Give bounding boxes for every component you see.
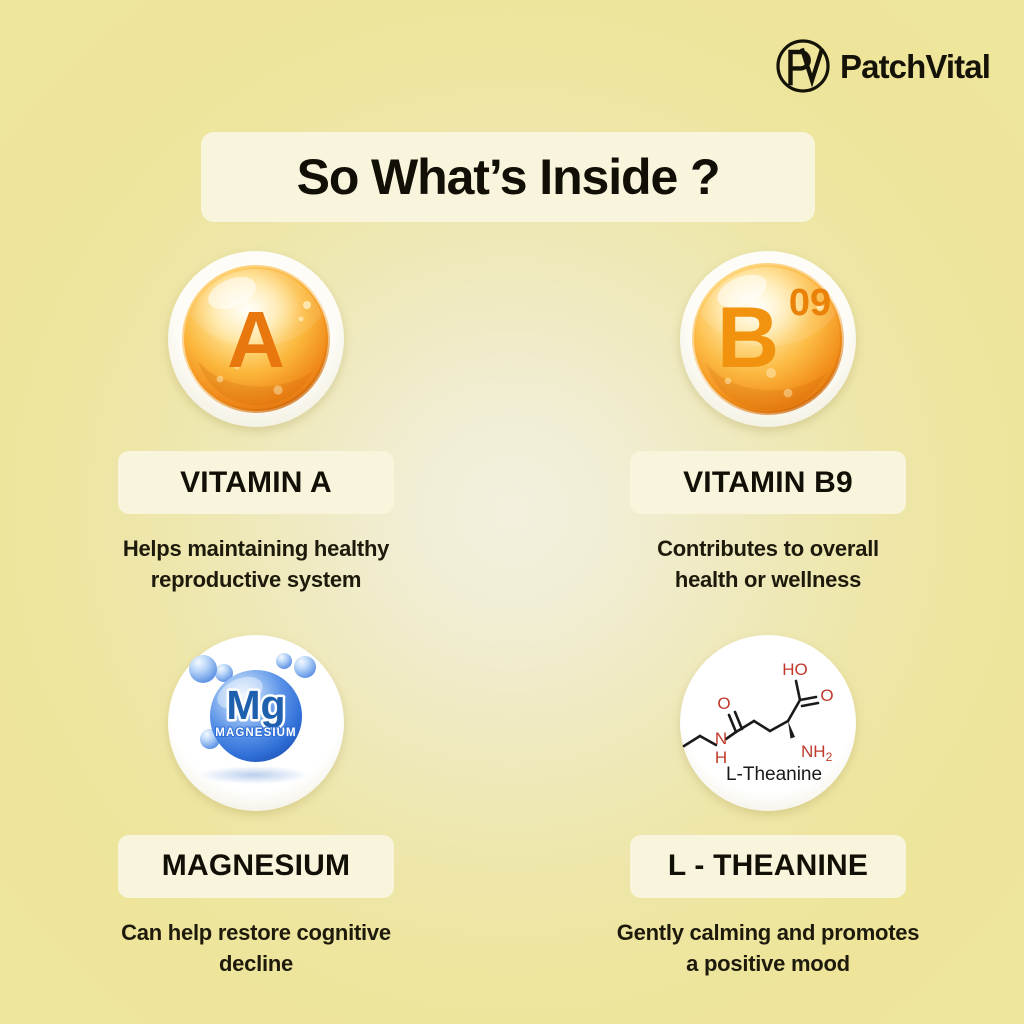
desc-line-2: reproductive system (61, 564, 451, 595)
vitamin-a-glyph: A (227, 295, 285, 384)
svg-text:N: N (715, 729, 727, 748)
ingredient-description: Can help restore cognitive decline (61, 917, 451, 980)
vitamin-b-glyph: B (717, 290, 779, 386)
desc-line-1: Contributes to overall (657, 536, 879, 561)
ingredient-card-vitamin-a[interactable]: A VITAMIN A Helps maintaining healthy re… (0, 243, 512, 596)
page-title-chip: So What’s Inside ? (201, 132, 815, 222)
brand-logo[interactable]: PatchVital (775, 38, 990, 94)
ingredient-description: Helps maintaining healthy reproductive s… (61, 533, 451, 596)
vitamin-b-superscript: 09 (789, 282, 831, 324)
ingredient-description: Contributes to overall health or wellnes… (573, 533, 963, 596)
desc-line-2: decline (61, 948, 451, 979)
magnesium-molecule-icon: Mg Mg MAGNESIUM (158, 627, 354, 823)
ingredient-card-vitamin-b9[interactable]: B 09 VITAMIN B9 Contributes to overall h… (512, 243, 1024, 596)
ingredient-name-chip: VITAMIN B9 (630, 451, 906, 514)
svg-text:O: O (820, 686, 833, 705)
ingredient-name: L - THEANINE (668, 849, 868, 883)
desc-line-1: Can help restore cognitive (121, 920, 391, 945)
ingredients-row-1: A VITAMIN A Helps maintaining healthy re… (0, 243, 1024, 596)
svg-text:O: O (717, 694, 730, 713)
l-theanine-structure-icon: HO O O N H NH2 L-Theanine (670, 627, 866, 823)
magnesium-symbol: Mg (226, 682, 285, 728)
ingredient-name-chip: VITAMIN A (118, 451, 394, 514)
page-title: So What’s Inside ? (297, 148, 720, 206)
poster-canvas: PatchVital So What’s Inside ? (0, 0, 1024, 1024)
ingredient-name: VITAMIN A (180, 466, 332, 500)
vitamin-b9-capsule-icon: B 09 (670, 243, 866, 439)
desc-line-2: a positive mood (573, 948, 963, 979)
ingredient-name-chip: MAGNESIUM (118, 835, 394, 898)
magnesium-word: MAGNESIUM (215, 727, 296, 739)
ingredients-grid: A VITAMIN A Helps maintaining healthy re… (0, 243, 1024, 980)
patchvital-monogram-icon (775, 38, 831, 94)
brand-wordmark: PatchVital (840, 50, 990, 83)
ingredient-card-l-theanine[interactable]: HO O O N H NH2 L-Theanine L - THEANINE (512, 627, 1024, 980)
desc-line-2: health or wellness (573, 564, 963, 595)
svg-text:HO: HO (782, 660, 808, 679)
ingredient-card-magnesium[interactable]: Mg Mg MAGNESIUM MAGNESIUM Can help resto… (0, 627, 512, 980)
ingredient-name: MAGNESIUM (162, 849, 350, 883)
ingredient-name: VITAMIN B9 (683, 466, 853, 500)
ingredients-row-2: Mg Mg MAGNESIUM MAGNESIUM Can help resto… (0, 627, 1024, 980)
vitamin-a-capsule-icon: A (158, 243, 354, 439)
ingredient-name-chip: L - THEANINE (630, 835, 906, 898)
desc-line-1: Helps maintaining healthy (123, 536, 389, 561)
ingredient-description: Gently calming and promotes a positive m… (573, 917, 963, 980)
desc-line-1: Gently calming and promotes (617, 920, 920, 945)
molecule-name-label: L-Theanine (726, 764, 822, 785)
